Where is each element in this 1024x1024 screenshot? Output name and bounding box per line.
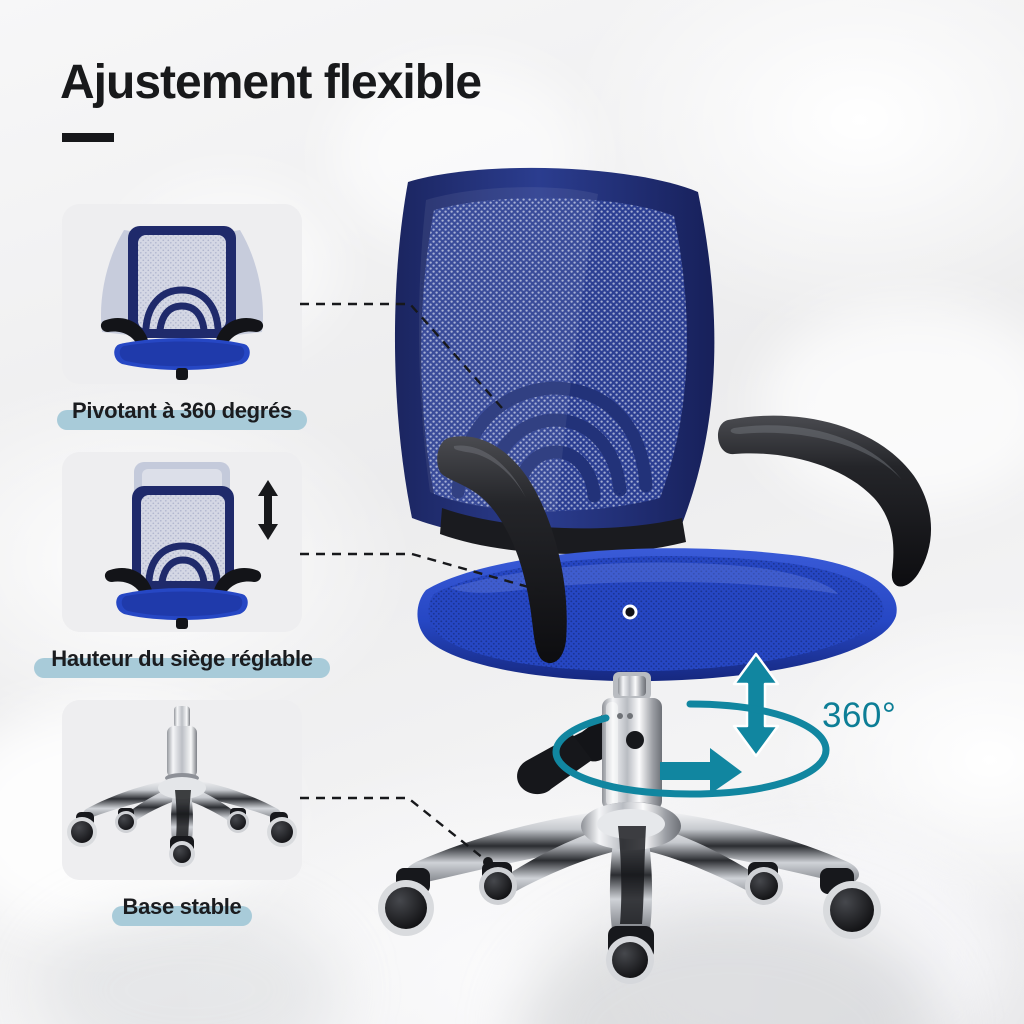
feature-thumb-height bbox=[62, 452, 302, 632]
feature-thumb-swivel bbox=[62, 204, 302, 384]
feature-caption-swivel: Pivotant à 360 degrés bbox=[32, 390, 332, 432]
feature-caption-base: Base stable bbox=[32, 886, 332, 928]
rotation-degree-label: 360° bbox=[822, 696, 896, 736]
feature-caption-height: Hauteur du siège réglable bbox=[32, 638, 332, 680]
title-accent-bar bbox=[62, 133, 114, 142]
page-title: Ajustement flexible bbox=[60, 55, 481, 110]
feature-thumb-base bbox=[62, 700, 302, 880]
product-image-office-chair bbox=[330, 120, 970, 1005]
